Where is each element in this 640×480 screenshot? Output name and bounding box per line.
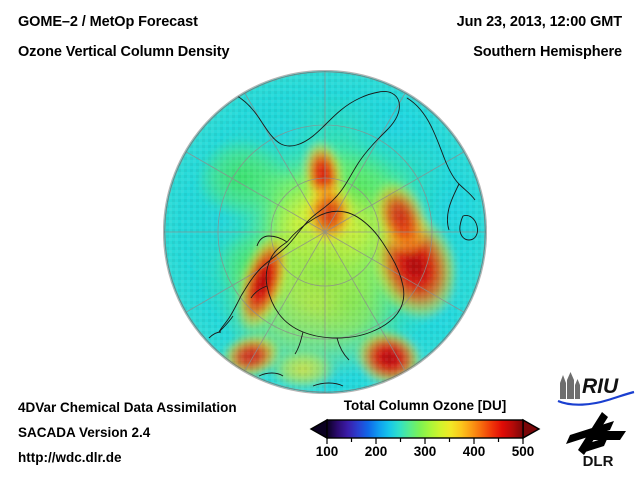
ozone-map-svg bbox=[163, 70, 487, 394]
colorbar-tick-label: 100 bbox=[316, 444, 339, 459]
dlr-logo-svg: DLR bbox=[562, 411, 636, 469]
riu-logo: RIU bbox=[556, 371, 636, 407]
colorbar-tick-labels: 100200300400500 bbox=[305, 444, 545, 466]
colorbar-tick-label: 300 bbox=[414, 444, 437, 459]
footer-line-method: 4DVar Chemical Data Assimilation bbox=[18, 400, 237, 415]
ozone-forecast-figure: GOME–2 / MetOp Forecast Jun 23, 2013, 12… bbox=[0, 0, 640, 480]
dlr-wordmark: DLR bbox=[583, 453, 614, 469]
region-title: Southern Hemisphere bbox=[473, 44, 622, 60]
colorbar-bar bbox=[327, 420, 523, 438]
colorbar: Total Column Ozone [DU] 100200300400500 bbox=[305, 398, 545, 470]
colorbar-tick-label: 200 bbox=[365, 444, 388, 459]
colorbar-max-arrow bbox=[523, 420, 539, 438]
footer-line-version: SACADA Version 2.4 bbox=[18, 425, 150, 440]
dlr-mark-icon bbox=[566, 412, 628, 455]
forecast-timestamp: Jun 23, 2013, 12:00 GMT bbox=[457, 14, 622, 30]
riu-wordmark: RIU bbox=[582, 375, 619, 398]
colorbar-min-arrow bbox=[311, 420, 327, 438]
colorbar-title: Total Column Ozone [DU] bbox=[305, 398, 545, 413]
product-title: GOME–2 / MetOp Forecast bbox=[18, 14, 198, 30]
colorbar-tick-label: 500 bbox=[512, 444, 535, 459]
riu-tower-icon bbox=[560, 372, 580, 399]
ozone-map-globe bbox=[163, 70, 487, 394]
quantity-title: Ozone Vertical Column Density bbox=[18, 44, 229, 60]
dlr-logo: DLR bbox=[562, 411, 636, 469]
footer-line-url[interactable]: http://wdc.dlr.de bbox=[18, 450, 122, 465]
colorbar-gradient bbox=[305, 418, 545, 446]
riu-logo-svg: RIU bbox=[556, 371, 636, 407]
colorbar-tick-label: 400 bbox=[463, 444, 486, 459]
